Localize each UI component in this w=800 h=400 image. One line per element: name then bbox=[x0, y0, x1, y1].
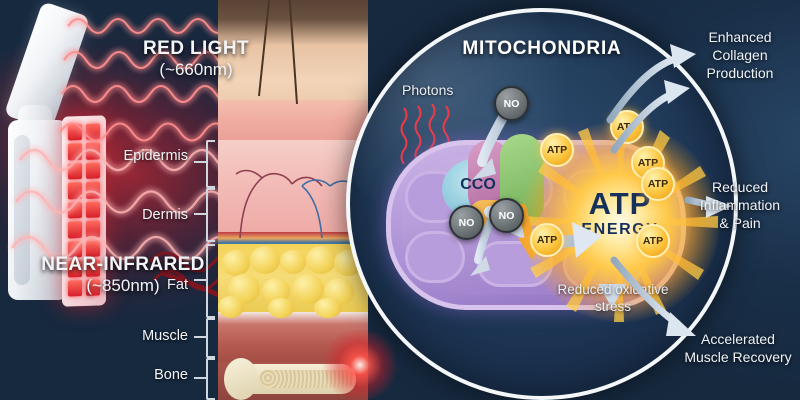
benefit-collagen-line2: Collagen bbox=[684, 46, 796, 64]
infographic-red-light-therapy: RED LIGHT (~660nm) NEAR-INFRARED (~850nm… bbox=[0, 0, 800, 400]
skin-layer-epidermis bbox=[218, 100, 368, 142]
benefit-collagen-line1: Enhanced bbox=[684, 28, 796, 46]
skin-label-fat: Fat bbox=[70, 277, 188, 293]
bracket-dermis bbox=[206, 188, 215, 242]
benefit-inflammation-line2: Inflammation bbox=[682, 196, 798, 214]
skin-label-muscle: Muscle bbox=[70, 328, 188, 344]
skin-label-bone: Bone bbox=[70, 367, 188, 383]
fat-cell bbox=[250, 246, 280, 274]
tick-dermis bbox=[194, 213, 206, 215]
benefit-inflammation: Reduced Inflammation & Pain bbox=[682, 178, 798, 233]
bracket-epidermis bbox=[206, 140, 215, 188]
near-infrared-title: NEAR-INFRARED bbox=[38, 254, 208, 276]
fat-cell bbox=[314, 298, 342, 318]
bone-epiphysis bbox=[224, 358, 258, 400]
skin-label-dermis: Dermis bbox=[70, 207, 188, 223]
skin-label-epidermis: Epidermis bbox=[70, 148, 188, 164]
benefit-inflammation-line3: & Pain bbox=[682, 214, 798, 232]
fat-cell bbox=[268, 298, 294, 318]
no-molecule: NO bbox=[489, 198, 524, 233]
bracket-muscle bbox=[206, 318, 215, 358]
bracket-bone bbox=[206, 358, 215, 400]
fat-cell bbox=[280, 250, 306, 274]
fat-cell bbox=[222, 250, 250, 276]
atp-molecule: ATP bbox=[540, 133, 574, 167]
atp-molecule: ATP bbox=[530, 223, 564, 257]
tick-muscle bbox=[194, 336, 206, 338]
red-light-wavelength: (~660nm) bbox=[116, 60, 276, 80]
benefit-muscle-line1: Accelerated bbox=[676, 330, 800, 348]
no-molecule: NO bbox=[449, 205, 484, 240]
benefit-muscle-line2: Muscle Recovery bbox=[676, 348, 800, 366]
tick-epidermis bbox=[194, 161, 206, 163]
tick-bone bbox=[194, 377, 206, 379]
benefit-muscle-recovery: Accelerated Muscle Recovery bbox=[676, 330, 800, 366]
benefit-inflammation-line1: Reduced bbox=[682, 178, 798, 196]
benefit-collagen: Enhanced Collagen Production bbox=[684, 28, 796, 83]
red-light-title: RED LIGHT bbox=[116, 38, 276, 60]
benefit-collagen-line3: Production bbox=[684, 64, 796, 82]
fat-cell bbox=[218, 296, 244, 318]
no-molecule: NO bbox=[494, 86, 529, 121]
fat-cell bbox=[306, 246, 336, 274]
